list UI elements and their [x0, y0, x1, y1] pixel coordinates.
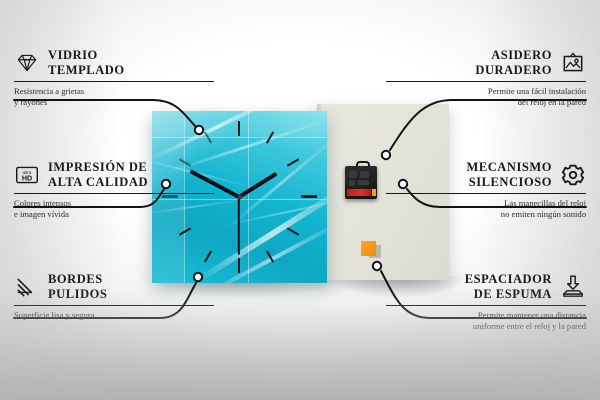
diamond-icon [14, 50, 40, 76]
feature-title-line1: MECANISMO [466, 160, 552, 175]
feature-subtitle-line2: uniforme entre el reloj y la pared [386, 321, 586, 332]
feature-header: ESPACIADOR DE ESPUMA [386, 272, 586, 302]
feature-divider [386, 305, 586, 306]
connector-node-vidrio [195, 126, 203, 134]
infographic-canvas: VIDRIO TEMPLADO Resistencia a grietas y … [0, 0, 600, 400]
feature-divider [386, 193, 586, 194]
feature-divider [14, 305, 214, 306]
feature-title-line2: TEMPLADO [48, 63, 125, 78]
feature-title: MECANISMO SILENCIOSO [466, 160, 552, 190]
feature-title: VIDRIO TEMPLADO [48, 48, 125, 78]
polished-edges-icon [14, 274, 40, 300]
feature-subtitle-line1: Resistencia a grietas [14, 86, 214, 97]
feature-title-line2: ALTA CALIDAD [48, 175, 148, 190]
feature-header: ultra HD IMPRESIÓN DE ALTA CALIDAD [14, 160, 214, 190]
feature-title: ASIDERO DURADERO [475, 48, 552, 78]
feature-title: ESPACIADOR DE ESPUMA [465, 272, 552, 302]
feature-mecanismo-silencioso: MECANISMO SILENCIOSO Las manecillas del … [386, 160, 586, 220]
feature-title-line1: ASIDERO [491, 48, 552, 63]
feature-subtitle-line2: y rayones [14, 97, 214, 108]
feature-divider [386, 81, 586, 82]
feature-title-line2: SILENCIOSO [469, 175, 552, 190]
feature-header: VIDRIO TEMPLADO [14, 48, 214, 78]
ultra-hd-icon: ultra HD [14, 162, 40, 188]
feature-bordes-pulidos: BORDES PULIDOS Superficie lisa y segura [14, 272, 214, 321]
feature-subtitle-line1: Permite una fácil instalación [386, 86, 586, 97]
connector-node-espaciador [373, 262, 381, 270]
feature-vidrio-templado: VIDRIO TEMPLADO Resistencia a grietas y … [14, 48, 214, 108]
feature-subtitle-line1: Superficie lisa y segura [14, 310, 214, 321]
picture-hanger-icon [560, 50, 586, 76]
feature-header: ASIDERO DURADERO [386, 48, 586, 78]
feature-header: BORDES PULIDOS [14, 272, 214, 302]
feature-impresion-alta-calidad: ultra HD IMPRESIÓN DE ALTA CALIDAD Color… [14, 160, 214, 220]
feature-espaciador-de-espuma: ESPACIADOR DE ESPUMA Permite mantener un… [386, 272, 586, 332]
feature-divider [14, 81, 214, 82]
svg-text:HD: HD [22, 175, 32, 183]
feature-title-line2: PULIDOS [48, 287, 107, 302]
feature-subtitle-line1: Permite mantener una distancia [386, 310, 586, 321]
feature-title-line2: DURADERO [475, 63, 552, 78]
feature-header: MECANISMO SILENCIOSO [386, 160, 586, 190]
connector-node-asidero [382, 151, 390, 159]
feature-subtitle-line1: Las manecillas del reloj [386, 198, 586, 209]
feature-title-line1: BORDES [48, 272, 107, 287]
feature-title-line2: DE ESPUMA [474, 287, 552, 302]
feature-subtitle-line1: Colores intensos [14, 198, 214, 209]
feature-title-line1: VIDRIO [48, 48, 125, 63]
feature-subtitle-line2: e imagen vívida [14, 209, 214, 220]
feature-title-line1: IMPRESIÓN DE [48, 160, 148, 175]
feature-title: BORDES PULIDOS [48, 272, 107, 302]
feature-asidero-duradero: ASIDERO DURADERO Permite una fácil insta… [386, 48, 586, 108]
feature-title: IMPRESIÓN DE ALTA CALIDAD [48, 160, 148, 190]
feature-subtitle-line2: del reloj en la pared [386, 97, 586, 108]
foam-spacer-arrow-icon [560, 274, 586, 300]
feature-subtitle-line2: no emiten ningún sonido [386, 209, 586, 220]
feature-title-line1: ESPACIADOR [465, 272, 552, 287]
gear-icon [560, 162, 586, 188]
feature-divider [14, 193, 214, 194]
